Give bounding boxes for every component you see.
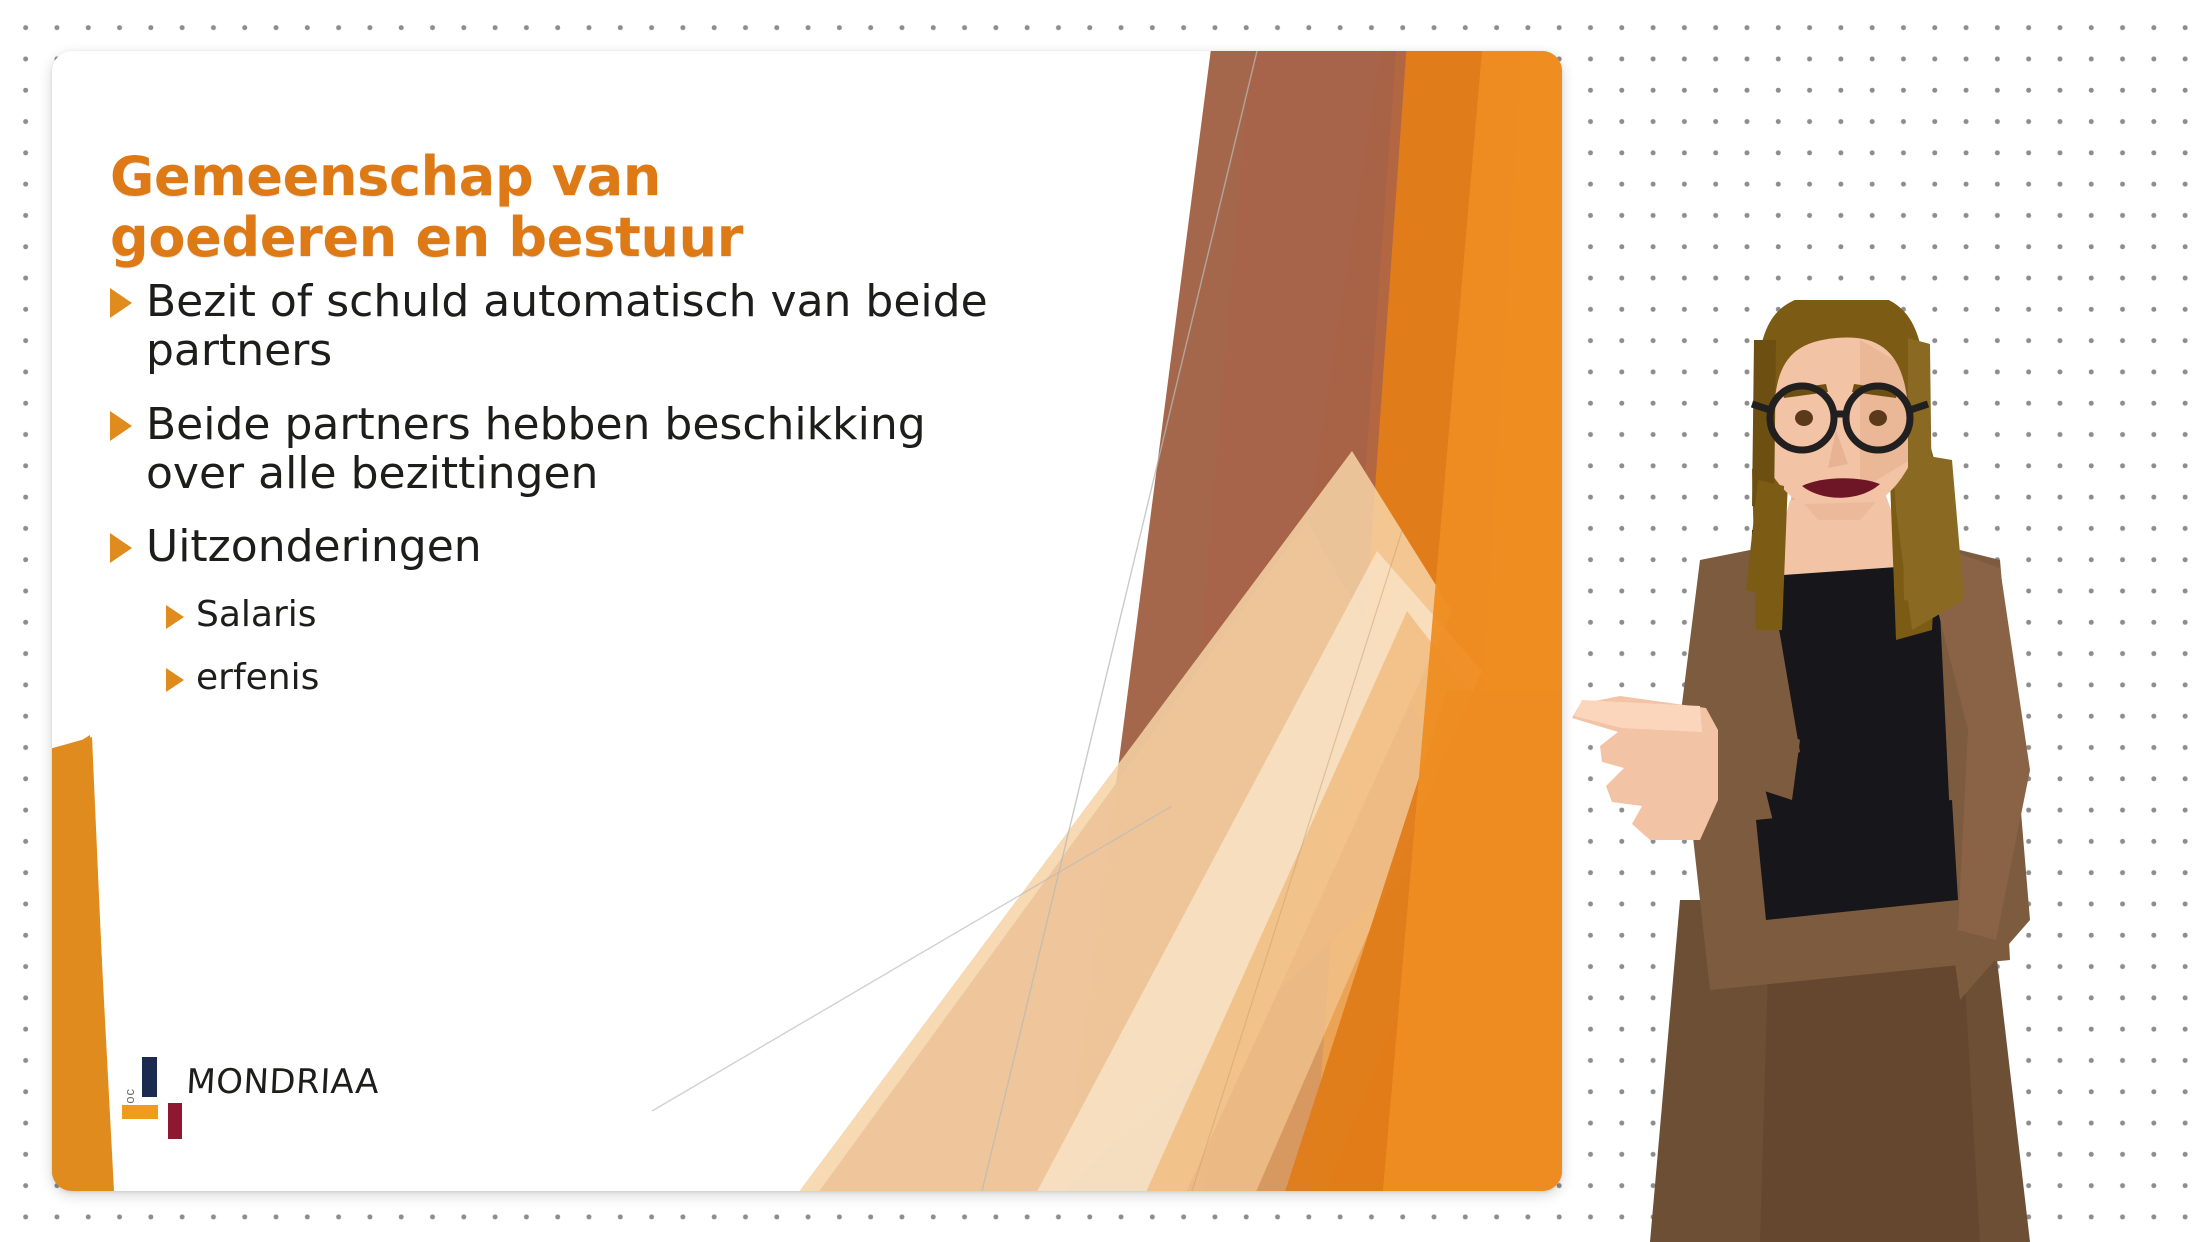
bullet-text: erfenis — [196, 658, 319, 698]
presentation-slide[interactable]: Gemeenschap van goederen en bestuur Bezi… — [52, 51, 1562, 1191]
logo-red-bar — [168, 1103, 182, 1139]
logo-name-text: MONDRIAAN — [185, 1062, 378, 1102]
bullet-text: Uitzonderingen — [146, 522, 482, 571]
slide-title: Gemeenschap van goederen en bestuur — [110, 147, 950, 268]
avatar-body — [1572, 300, 2030, 1242]
logo-navy-bar — [142, 1057, 157, 1097]
avatar-eye-right — [1869, 410, 1887, 426]
sub-bullet-item-2: erfenis — [166, 658, 990, 698]
slide-bullet-list: Bezit of schuld automatisch van beide pa… — [110, 277, 990, 720]
avatar-hair-shoulder-right — [1902, 482, 1942, 606]
bullet-text: Salaris — [196, 595, 317, 635]
avatar-presenter — [1560, 300, 2208, 1242]
avatar-hair-shoulder-left — [1746, 480, 1784, 600]
sub-bullet-item-1: Salaris — [166, 595, 990, 635]
bullet-text: Bezit of schuld automatisch van beide pa… — [146, 277, 990, 376]
bullet-triangle-icon — [166, 605, 184, 629]
roc-mondriaan-logo: roc MONDRIAAN — [118, 1051, 378, 1141]
bullet-item-3: Uitzonderingen — [110, 522, 990, 571]
bullet-item-2: Beide partners hebben beschikking over a… — [110, 400, 990, 499]
bullet-triangle-icon — [110, 288, 132, 318]
avatar-black-top-waist — [1756, 800, 1958, 920]
bullet-triangle-icon — [110, 411, 132, 441]
left-orange-wedge-main — [52, 735, 114, 1191]
logo-orange-bar — [122, 1105, 158, 1119]
bullet-triangle-icon — [166, 668, 184, 692]
bullet-triangle-icon — [110, 533, 132, 563]
avatar-eye-left — [1795, 410, 1813, 426]
bullet-item-1: Bezit of schuld automatisch van beide pa… — [110, 277, 990, 376]
bullet-text: Beide partners hebben beschikking over a… — [146, 400, 990, 499]
